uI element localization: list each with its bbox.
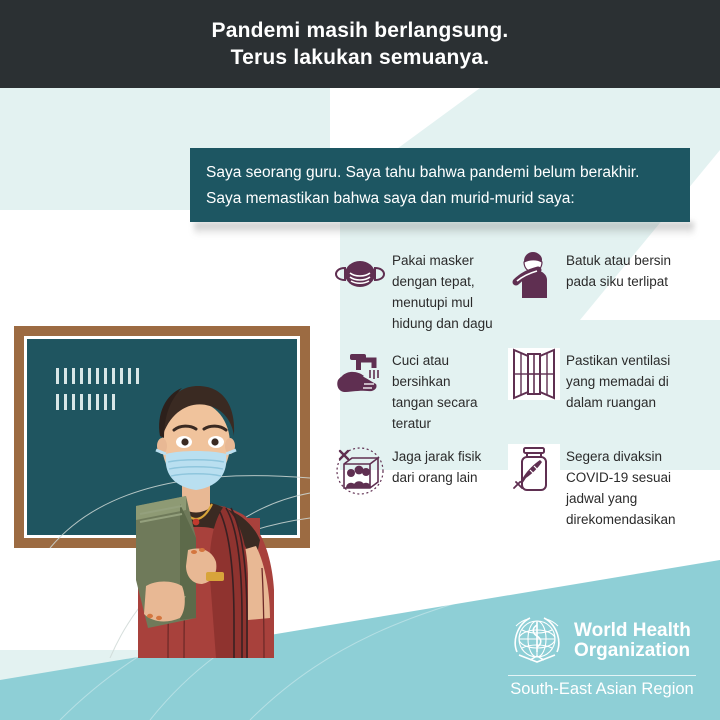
who-logo: World Health Organization South-East Asi… xyxy=(508,612,704,698)
tip-wear-mask-text: Pakai masker dengan tepat, menutupi mul … xyxy=(386,248,524,334)
who-region-label: South-East Asian Region xyxy=(508,680,696,699)
header-banner: Pandemi masih berlangsung. Terus lakukan… xyxy=(0,0,720,88)
who-wordmark: World Health Organization xyxy=(574,621,691,661)
who-name-line-1: World Health xyxy=(574,621,691,641)
tip-get-vaccinated: Segera divaksin COVID-19 sesuai jadwal y… xyxy=(508,444,720,530)
who-divider xyxy=(508,675,696,676)
who-name-line-2: Organization xyxy=(574,641,691,661)
vaccine-vial-icon xyxy=(508,444,560,496)
tip-physical-distance: Jaga jarak fisik dari orang lain xyxy=(334,444,530,496)
physical-distance-icon xyxy=(334,444,386,496)
face-mask-icon xyxy=(334,248,386,300)
quote-line-1: Saya seorang guru. Saya tahu bahwa pande… xyxy=(206,160,676,186)
tips-grid: Pakai masker dengan tepat, menutupi mul … xyxy=(334,248,720,548)
quote-line-2: Saya memastikan bahwa saya dan murid-mur… xyxy=(206,186,676,212)
quote-box-shadow xyxy=(194,222,694,236)
tip-cough-elbow: Batuk atau bersin pada siku terlipat xyxy=(508,248,720,300)
open-window-icon xyxy=(508,348,560,400)
teacher-illustration xyxy=(10,318,340,658)
tip-physical-distance-text: Jaga jarak fisik dari orang lain xyxy=(386,444,524,488)
header-line-1: Pandemi masih berlangsung. xyxy=(212,17,509,44)
tip-wash-hands: Cuci atau bersihkan tangan secara teratu… xyxy=(334,348,530,434)
quote-box: Saya seorang guru. Saya tahu bahwa pande… xyxy=(190,148,690,222)
poster-root: Pandemi masih berlangsung. Terus lakukan… xyxy=(0,0,720,720)
tip-get-vaccinated-text: Segera divaksin COVID-19 sesuai jadwal y… xyxy=(560,444,718,530)
tip-cough-elbow-text: Batuk atau bersin pada siku terlipat xyxy=(560,248,718,292)
tip-ventilation: Pastikan ventilasi yang memadai di dalam… xyxy=(508,348,720,413)
who-logo-top: World Health Organization xyxy=(508,612,704,670)
tip-wear-mask: Pakai masker dengan tepat, menutupi mul … xyxy=(334,248,530,334)
hand-washing-icon xyxy=(334,348,386,400)
header-line-2: Terus lakukan semuanya. xyxy=(231,44,490,71)
cough-into-elbow-icon xyxy=(508,248,560,300)
who-emblem-icon xyxy=(508,612,566,670)
tip-wash-hands-text: Cuci atau bersihkan tangan secara teratu… xyxy=(386,348,524,434)
tip-ventilation-text: Pastikan ventilasi yang memadai di dalam… xyxy=(560,348,718,413)
